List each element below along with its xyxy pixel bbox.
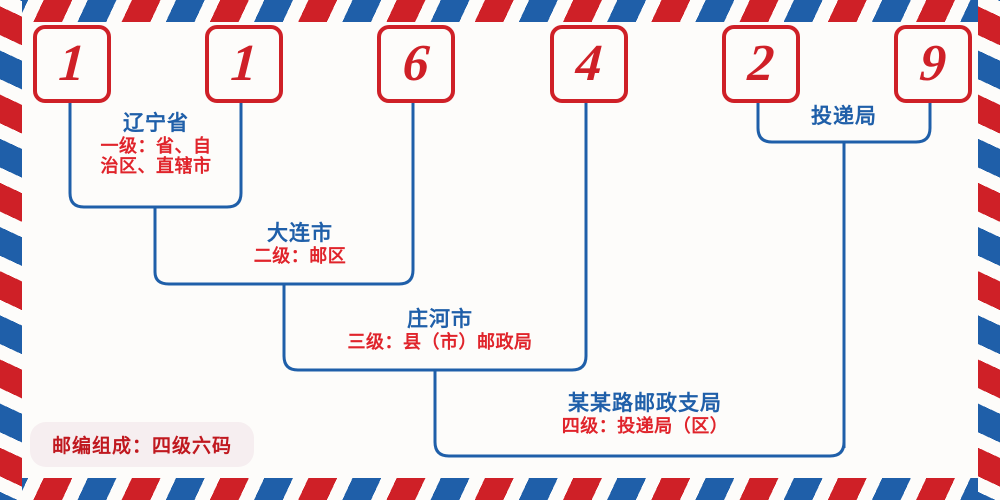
airmail-border-right xyxy=(978,0,1000,500)
postcode-composition-note: 邮编组成：四级六码 xyxy=(30,422,254,467)
node-level3-sub-line-1: 三级：县（市）邮政局 xyxy=(310,332,570,352)
bracket-level4-u xyxy=(435,438,844,456)
node-level1: 辽宁省 一级：省、自 治区、直辖市 xyxy=(76,112,236,176)
node-level5: 投递局 xyxy=(744,105,944,129)
digit-glyph-6: 9 xyxy=(918,38,948,90)
node-level3-sub: 三级：县（市）邮政局 xyxy=(310,332,570,352)
digit-glyph-5: 2 xyxy=(746,38,776,90)
digit-glyph-4: 4 xyxy=(574,38,604,90)
digit-glyph-1: 1 xyxy=(57,38,87,90)
node-level1-title: 辽宁省 xyxy=(76,112,236,136)
node-level2: 大连市 二级：邮区 xyxy=(190,222,410,266)
node-level2-sub: 二级：邮区 xyxy=(190,246,410,266)
node-level3: 庄河市 三级：县（市）邮政局 xyxy=(310,308,570,352)
digit-box-6[interactable]: 9 xyxy=(894,25,972,103)
node-level2-sub-line-1: 二级：邮区 xyxy=(190,246,410,266)
digit-box-4[interactable]: 4 xyxy=(550,25,628,103)
node-level4-sub-line-1: 四级：投递局（区） xyxy=(520,416,770,436)
airmail-border-top xyxy=(0,0,1000,22)
airmail-border-bottom xyxy=(0,478,1000,500)
node-level5-title: 投递局 xyxy=(744,105,944,129)
node-level4: 某某路邮政支局 四级：投递局（区） xyxy=(520,392,770,436)
airmail-border-left xyxy=(0,0,22,500)
node-level4-title: 某某路邮政支局 xyxy=(520,392,770,416)
digit-box-1[interactable]: 1 xyxy=(33,25,111,103)
node-level1-sub-line-1: 一级：省、自 xyxy=(76,136,236,156)
digit-glyph-3: 6 xyxy=(401,38,431,90)
node-level4-sub: 四级：投递局（区） xyxy=(520,416,770,436)
node-level1-sub: 一级：省、自 治区、直辖市 xyxy=(76,136,236,176)
node-level3-title: 庄河市 xyxy=(310,308,570,332)
digit-box-3[interactable]: 6 xyxy=(377,25,455,103)
digit-box-5[interactable]: 2 xyxy=(722,25,800,103)
node-level1-sub-line-2: 治区、直辖市 xyxy=(76,156,236,176)
digit-glyph-2: 1 xyxy=(229,38,259,90)
node-level2-title: 大连市 xyxy=(190,222,410,246)
digit-box-2[interactable]: 1 xyxy=(205,25,283,103)
postcode-diagram: 1 1 6 4 2 9 投递局 辽宁省 一级：省、自 治区、直辖市 大连市 二级… xyxy=(0,0,1000,500)
